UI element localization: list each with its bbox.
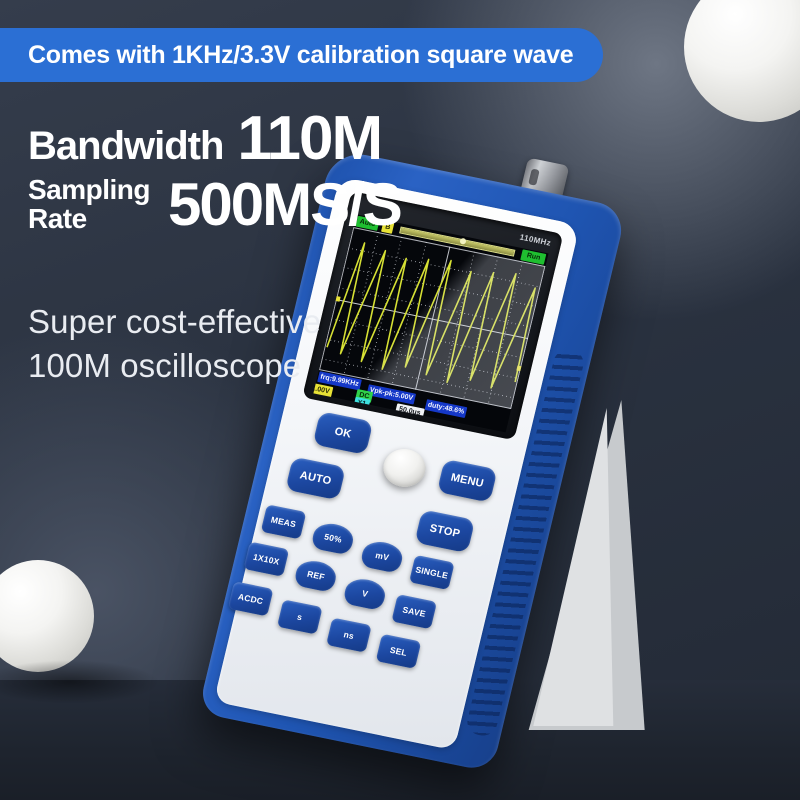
key-seconds[interactable]: s	[277, 599, 323, 634]
product-photo: 110MHz Auto B Run	[246, 150, 800, 800]
promo-banner-text: Comes with 1KHz/3.3V calibration square …	[28, 41, 573, 70]
rotary-knob[interactable]	[379, 445, 429, 490]
key-ok[interactable]: OK	[312, 411, 373, 455]
sampling-rate-row: Sampling Rate 500MS/S	[28, 175, 401, 233]
key-nanoseconds[interactable]: ns	[326, 618, 372, 653]
key-menu[interactable]: MENU	[437, 459, 498, 503]
key-save[interactable]: SAVE	[391, 594, 437, 629]
bandwidth-row: Bandwidth 110M	[28, 110, 401, 169]
key-single[interactable]: SINGLE	[409, 555, 455, 590]
tagline-block: Super cost-effective 100M oscilloscope	[28, 300, 321, 387]
sampling-rate-label-line2: Rate	[28, 203, 87, 234]
time-per-division[interactable]: 50.0us	[395, 403, 425, 419]
bandwidth-value: 110M	[237, 110, 381, 169]
probe-attenuation[interactable]: X1	[353, 397, 370, 411]
oscilloscope-display[interactable]: Auto B Run	[313, 214, 548, 432]
sampling-rate-value: 500MS/S	[168, 176, 401, 233]
key-millivolt[interactable]: mV	[359, 539, 405, 574]
bandwidth-label: Bandwidth	[28, 124, 223, 169]
headline-block: Bandwidth 110M Sampling Rate 500MS/S	[28, 110, 401, 233]
sampling-rate-label: Sampling Rate	[28, 175, 150, 233]
trigger-level-marker[interactable]	[516, 365, 522, 371]
key-probe-1x-10x[interactable]: 1X10X	[243, 542, 289, 577]
key-fifty-percent[interactable]: 50%	[310, 520, 356, 555]
key-ac-dc[interactable]: ACDC	[228, 581, 274, 616]
key-auto[interactable]: AUTO	[285, 457, 346, 501]
bezel-model-label: 110MHz	[519, 233, 552, 248]
key-volt[interactable]: V	[342, 576, 388, 611]
sampling-rate-label-line1: Sampling	[28, 174, 150, 205]
tagline-line2: 100M oscilloscope	[28, 344, 321, 388]
key-meas[interactable]: MEAS	[261, 504, 307, 539]
key-stop[interactable]: STOP	[414, 509, 475, 553]
tagline-line1: Super cost-effective	[28, 300, 321, 344]
key-ref[interactable]: REF	[293, 558, 339, 593]
promo-banner: Comes with 1KHz/3.3V calibration square …	[0, 28, 603, 82]
key-sel[interactable]: SEL	[376, 634, 422, 669]
